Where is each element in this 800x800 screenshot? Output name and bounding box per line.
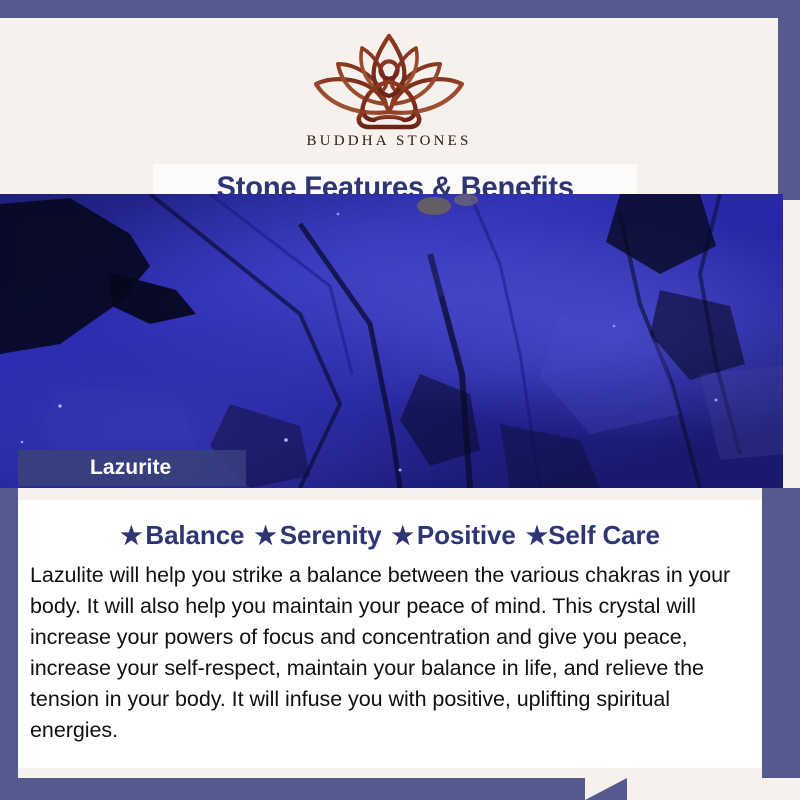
keyword-item-serenity: ★Serenity bbox=[254, 520, 381, 551]
star-icon: ★ bbox=[392, 522, 414, 550]
star-icon: ★ bbox=[526, 522, 548, 550]
keyword-label: Serenity bbox=[280, 520, 382, 550]
poster-canvas: BUDDHA STONES Stone Features & Benefits bbox=[0, 0, 800, 800]
lazurite-stone-photo bbox=[0, 194, 783, 488]
description-paragraph: Lazulite will help you strike a balance … bbox=[30, 560, 750, 746]
content-panel: ★Balance★Serenity★Positive★Self Care Laz… bbox=[18, 500, 762, 768]
brand-logo: BUDDHA STONES bbox=[0, 26, 778, 150]
keyword-label: Self Care bbox=[548, 520, 660, 550]
frame-left-strip bbox=[0, 488, 18, 800]
stone-name-banner: Lazurite bbox=[18, 450, 246, 486]
keyword-label: Positive bbox=[417, 520, 516, 550]
star-icon: ★ bbox=[120, 522, 142, 550]
frame-bottom-diagonal bbox=[585, 778, 627, 800]
frame-top-right-diagonal bbox=[610, 0, 800, 18]
brand-name: BUDDHA STONES bbox=[0, 133, 778, 150]
lotus-meditation-figure-icon bbox=[0, 26, 778, 132]
stone-name: Lazurite bbox=[90, 456, 171, 480]
content-top-cream-strip bbox=[18, 488, 762, 500]
frame-top-right-strip bbox=[778, 0, 800, 200]
frame-right-strip bbox=[762, 488, 800, 780]
keyword-item-self-care: ★Self Care bbox=[526, 520, 660, 551]
keyword-item-positive: ★Positive bbox=[392, 520, 516, 551]
keyword-label: Balance bbox=[145, 520, 244, 550]
frame-bottom-bar bbox=[0, 778, 625, 800]
keyword-item-balance: ★Balance bbox=[120, 520, 244, 551]
header-section: BUDDHA STONES Stone Features & Benefits bbox=[0, 18, 778, 194]
star-icon: ★ bbox=[254, 522, 276, 550]
keyword-list: ★Balance★Serenity★Positive★Self Care bbox=[18, 520, 762, 551]
